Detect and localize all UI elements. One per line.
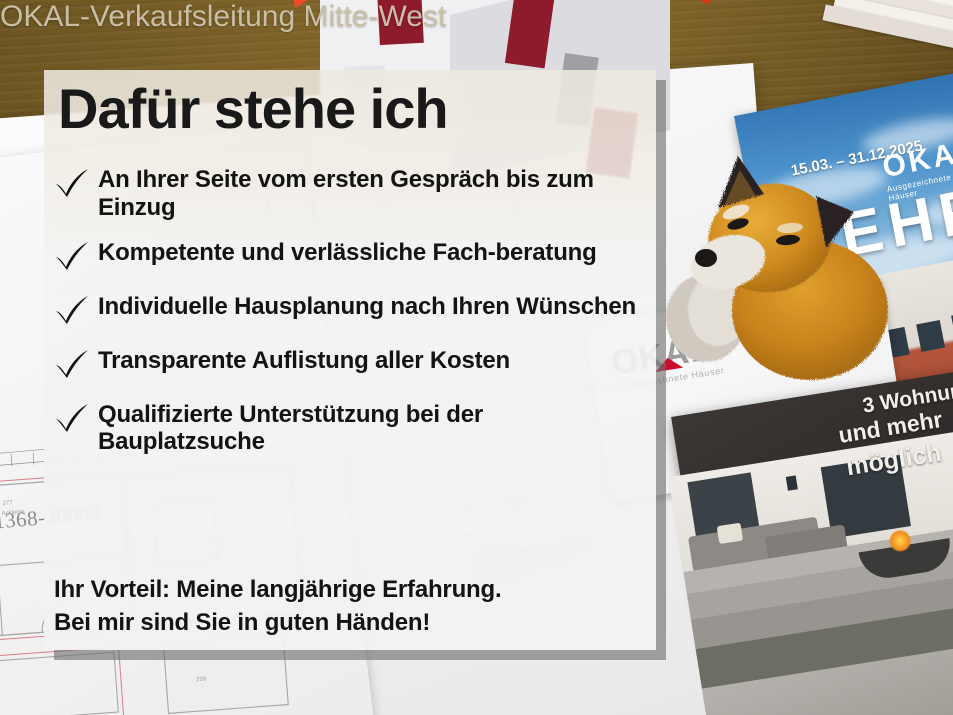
plush-fox-figurine [660,150,910,385]
list-item: Qualifizierte Unterstützung bei der Baup… [52,401,652,457]
checkmark-icon [52,347,98,384]
svg-text:299: 299 [196,676,207,683]
list-item: Kompetente und verlässliche Fach-beratun… [52,239,652,276]
checkmark-icon [52,293,98,330]
list-item-label: An Ihrer Seite vom ersten Gespräch bis z… [98,166,652,222]
content-panel: Dafür stehe ich An Ihrer Seite vom erste… [44,70,656,650]
slide-caption: OKAL-Verkaufsleitung Mitte-West [0,0,446,34]
checkmark-icon [52,239,98,276]
list-item-label: Individuelle Hausplanung nach Ihren Wüns… [98,293,636,321]
page-title: Dafür stehe ich [58,76,448,141]
closing-statement: Ihr Vorteil: Meine langjährige Erfahrung… [54,573,501,639]
list-item: An Ihrer Seite vom ersten Gespräch bis z… [52,166,652,222]
svg-text:277: 277 [3,500,14,507]
list-item-label: Qualifizierte Unterstützung bei der Baup… [98,401,652,457]
closing-line-2: Bei mir sind Sie in guten Händen! [54,606,501,639]
closing-line-1: Ihr Vorteil: Meine langjährige Erfahrung… [54,573,501,606]
list-item-label: Transparente Auflistung aller Kosten [98,347,510,375]
checkmark-icon [52,401,98,438]
slide-canvas: 274DuWo 240.32 m² 277Ankleide 24.14 m² 2… [0,0,953,715]
benefits-list: An Ihrer Seite vom ersten Gespräch bis z… [52,166,652,473]
list-item-label: Kompetente und verlässliche Fach-beratun… [98,239,597,267]
photo-terrace [668,430,953,715]
checkmark-icon [52,166,98,203]
list-item: Transparente Auflistung aller Kosten [52,347,652,384]
list-item: Individuelle Hausplanung nach Ihren Wüns… [52,293,652,330]
